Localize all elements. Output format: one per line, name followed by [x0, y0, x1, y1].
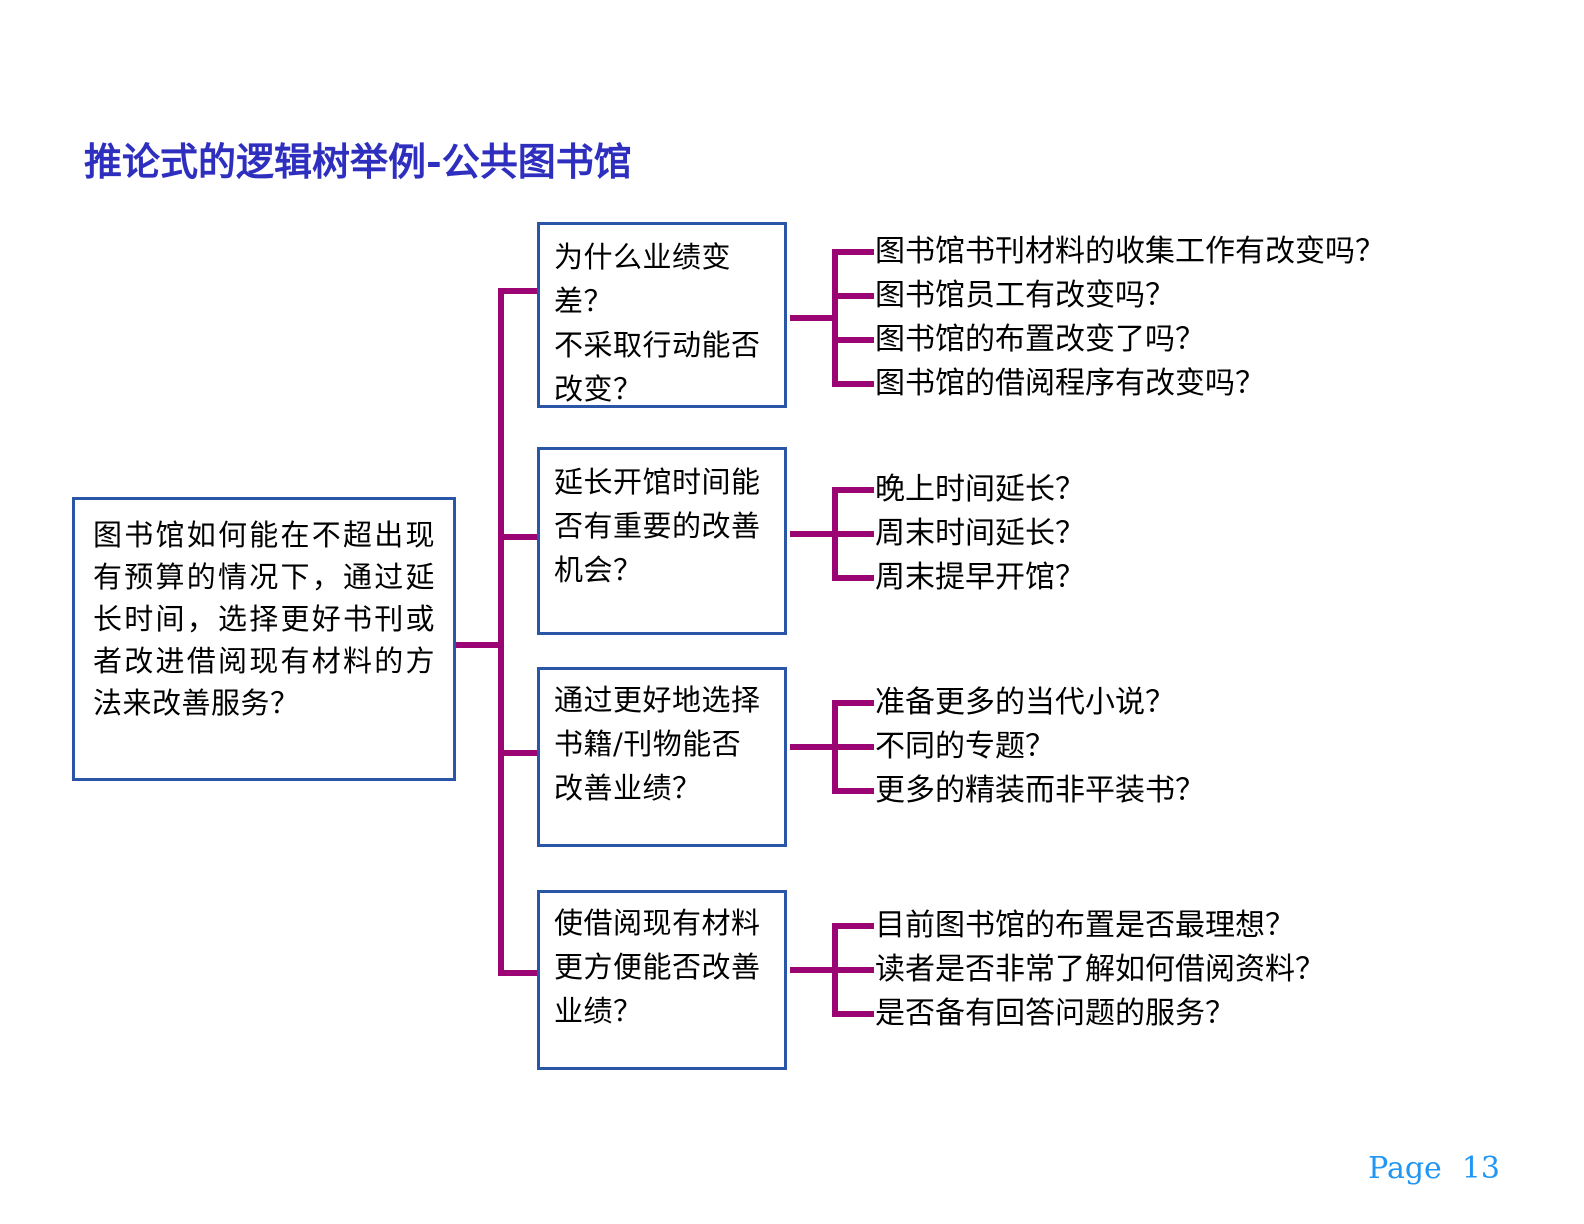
leaf-item: 读者是否非常了解如何借阅资料？ [875, 948, 1325, 992]
trunk-stub-branch-2 [498, 534, 540, 540]
leaf-list-1: 图书馆书刊材料的收集工作有改变吗？ 图书馆员工有改变吗？ 图书馆的布置改变了吗？… [875, 230, 1385, 406]
branch-question-box-3: 通过更好地选择书籍/刊物能否改善业绩？ [537, 667, 787, 847]
leaf-bracket-stub [832, 249, 874, 255]
leaf-item: 图书馆书刊材料的收集工作有改变吗？ [875, 230, 1385, 274]
branch-question-box-2: 延长开馆时间能否有重要的改善机会？ [537, 447, 787, 635]
trunk-stub-branch-3 [498, 750, 540, 756]
leaf-item: 图书馆的布置改变了吗？ [875, 318, 1385, 362]
leaf-item: 准备更多的当代小说？ [875, 681, 1205, 725]
leaf-list-2: 晚上时间延长？ 周末时间延长？ 周末提早开馆？ [875, 468, 1085, 600]
trunk-stub-branch-1 [498, 288, 540, 294]
branch-question-text-1: 为什么业绩变差？ 不采取行动能否改变？ [540, 235, 784, 411]
leaf-bracket-stub [832, 1011, 874, 1017]
page-title: 推论式的逻辑树举例-公共图书馆 [84, 131, 632, 186]
leaf-bracket-input-stub [790, 531, 836, 537]
footer-page-label: Page [1368, 1151, 1442, 1186]
leaf-bracket-input-stub [790, 315, 836, 321]
leaf-item: 晚上时间延长？ [875, 468, 1085, 512]
leaf-bracket-stub [832, 575, 874, 581]
leaf-item: 更多的精装而非平装书？ [875, 769, 1205, 813]
footer-page-indicator: Page13 [1368, 1151, 1500, 1186]
leaf-item: 周末时间延长？ [875, 512, 1085, 556]
root-question-text: 图书馆如何能在不超出现有预算的情况下，通过延长时间，选择更好书刊或者改进借阅现有… [75, 514, 453, 724]
leaf-bracket-stub [832, 923, 874, 929]
leaf-bracket-input-stub [790, 744, 836, 750]
leaf-item: 周末提早开馆？ [875, 556, 1085, 600]
slide-canvas: 推论式的逻辑树举例-公共图书馆 图书馆如何能在不超出现有预算的情况下，通过延长时… [0, 0, 1584, 1224]
leaf-item: 目前图书馆的布置是否最理想？ [875, 904, 1325, 948]
leaf-item: 是否备有回答问题的服务？ [875, 992, 1325, 1036]
root-question-box: 图书馆如何能在不超出现有预算的情况下，通过延长时间，选择更好书刊或者改进借阅现有… [72, 497, 456, 781]
leaf-bracket-stub [832, 487, 874, 493]
branch-question-text-4: 使借阅现有材料更方便能否改善业绩？ [540, 901, 784, 1033]
leaf-list-4: 目前图书馆的布置是否最理想？ 读者是否非常了解如何借阅资料？ 是否备有回答问题的… [875, 904, 1325, 1036]
branch-question-text-3: 通过更好地选择书籍/刊物能否改善业绩？ [540, 678, 784, 810]
leaf-bracket-stub [832, 381, 874, 387]
branch-question-box-4: 使借阅现有材料更方便能否改善业绩？ [537, 890, 787, 1070]
footer-page-number: 13 [1462, 1151, 1500, 1186]
trunk-stub-branch-4 [498, 970, 540, 976]
leaf-bracket-stub [832, 337, 874, 343]
leaf-bracket-stub [832, 744, 874, 750]
leaf-bracket-input-stub [790, 967, 836, 973]
trunk-connector-line [498, 288, 504, 976]
leaf-item: 图书馆的借阅程序有改变吗？ [875, 362, 1385, 406]
leaf-item: 图书馆员工有改变吗？ [875, 274, 1385, 318]
root-connector-stub [456, 642, 504, 648]
leaf-bracket-stub [832, 967, 874, 973]
leaf-bracket-stub [832, 293, 874, 299]
branch-question-box-1: 为什么业绩变差？ 不采取行动能否改变？ [537, 222, 787, 408]
leaf-list-3: 准备更多的当代小说？ 不同的专题？ 更多的精装而非平装书？ [875, 681, 1205, 813]
leaf-bracket-stub [832, 700, 874, 706]
leaf-bracket-stub [832, 531, 874, 537]
leaf-item: 不同的专题？ [875, 725, 1205, 769]
branch-question-text-2: 延长开馆时间能否有重要的改善机会？ [540, 460, 784, 592]
leaf-bracket-stub [832, 788, 874, 794]
